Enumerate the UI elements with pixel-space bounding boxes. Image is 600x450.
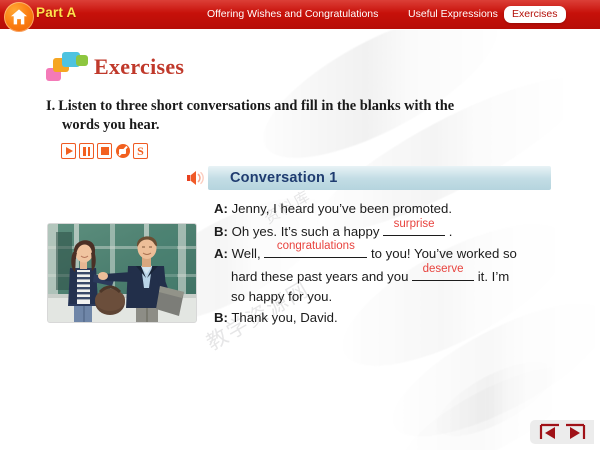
stop-button[interactable] bbox=[97, 143, 112, 159]
speaker-label: B: bbox=[214, 224, 228, 239]
dialogue-block: A: Jenny, I heard you’ve been promoted. … bbox=[214, 199, 556, 329]
subtitle-button[interactable]: S bbox=[133, 143, 148, 159]
nav-tab-exercises[interactable]: Exercises bbox=[504, 6, 566, 23]
next-arrow-icon bbox=[564, 423, 586, 441]
play-icon bbox=[66, 147, 73, 155]
answer-text: congratulations bbox=[264, 240, 367, 253]
instruction-line-2: words you hear. bbox=[46, 116, 554, 135]
speaker-glyph bbox=[186, 170, 206, 186]
next-page-button[interactable] bbox=[564, 423, 586, 441]
dialogue-text: Well, bbox=[228, 246, 264, 261]
colored-blocks-icon bbox=[46, 50, 88, 84]
speaker-label: A: bbox=[214, 246, 228, 261]
pause-icon bbox=[83, 147, 90, 156]
answer-blank-congratulations[interactable]: congratulations bbox=[264, 242, 367, 258]
dialogue-text: . bbox=[445, 224, 452, 239]
prev-page-button[interactable] bbox=[539, 423, 561, 441]
answer-blank-deserve[interactable]: deserve bbox=[412, 265, 474, 281]
dialogue-line: A: Jenny, I heard you’ve been promoted. bbox=[214, 199, 556, 220]
mute-button[interactable] bbox=[115, 143, 130, 159]
speaker-label: B: bbox=[214, 310, 228, 325]
dialogue-text: hard these past years and you bbox=[231, 269, 412, 284]
answer-text: deserve bbox=[412, 263, 474, 276]
dialogue-line: hard these past years and you deserve it… bbox=[214, 265, 556, 288]
stop-icon bbox=[101, 147, 109, 155]
instruction-text: I.Listen to three short conversations an… bbox=[46, 97, 554, 135]
dialogue-text: so happy for you. bbox=[231, 289, 332, 304]
home-icon[interactable] bbox=[4, 2, 34, 32]
page-title: Exercises bbox=[94, 54, 184, 80]
instruction-line-1: Listen to three short conversations and … bbox=[58, 98, 454, 114]
top-navigation-bar: Part A Offering Wishes and Congratulatio… bbox=[0, 0, 600, 30]
speaker-label: A: bbox=[214, 201, 228, 216]
speaker-icon[interactable] bbox=[186, 170, 206, 186]
page-title-row: Exercises bbox=[46, 50, 184, 84]
dialogue-line: A: Well, congratulations to you! You’ve … bbox=[214, 242, 556, 265]
answer-text: surprise bbox=[383, 218, 445, 231]
prev-arrow-icon bbox=[539, 423, 561, 441]
block-green bbox=[76, 55, 88, 66]
dialogue-text: Oh yes. It’s such a happy bbox=[228, 224, 383, 239]
pause-button[interactable] bbox=[79, 143, 94, 159]
nav-tab-offering-wishes[interactable]: Offering Wishes and Congratulations bbox=[201, 6, 384, 23]
play-button[interactable] bbox=[61, 143, 76, 159]
dialogue-text: Thank you, David. bbox=[228, 310, 338, 325]
conversation-title: Conversation 1 bbox=[230, 170, 338, 186]
instruction-number: I. bbox=[46, 98, 55, 114]
answer-blank-surprise[interactable]: surprise bbox=[383, 220, 445, 236]
home-glyph bbox=[10, 8, 28, 26]
nav-tab-useful-expressions[interactable]: Useful Expressions bbox=[402, 6, 504, 23]
dialogue-text: Jenny, I heard you’ve been promoted. bbox=[228, 201, 452, 216]
dialogue-text: to you! You’ve worked so bbox=[367, 246, 517, 261]
conversation-photo bbox=[47, 223, 197, 323]
dialogue-line: so happy for you. bbox=[214, 287, 556, 308]
dialogue-line: B: Thank you, David. bbox=[214, 308, 556, 329]
s-letter-icon: S bbox=[137, 145, 144, 157]
page-navigation bbox=[530, 420, 594, 444]
dialogue-line: B: Oh yes. It’s such a happy surprise . bbox=[214, 220, 556, 243]
audio-control-bar: S bbox=[61, 143, 148, 159]
dialogue-text: it. I’m bbox=[474, 269, 509, 284]
part-label: Part A bbox=[36, 5, 76, 20]
courseware-page: 教学资源网 资料库 Part A Offering Wishes and Con… bbox=[0, 0, 600, 450]
conversation-header-bar: Conversation 1 bbox=[208, 166, 551, 190]
photo-illustration bbox=[48, 224, 196, 322]
mute-speaker-icon bbox=[116, 144, 130, 158]
